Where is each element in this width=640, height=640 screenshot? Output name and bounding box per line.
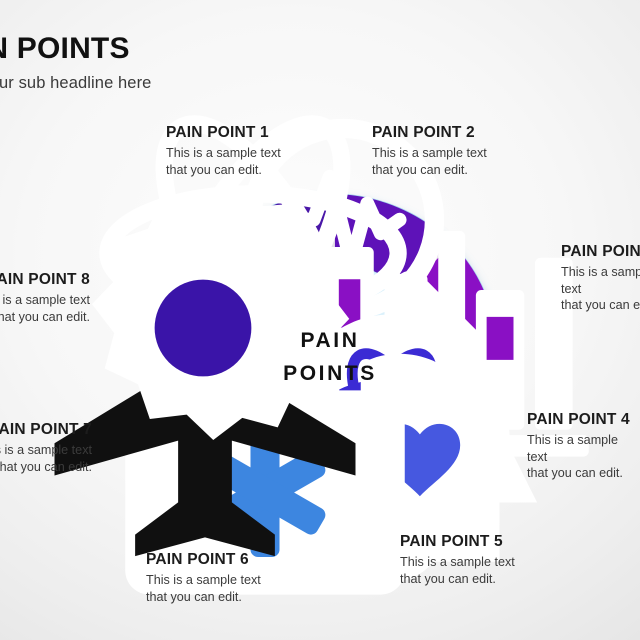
callout-body: This is a sample text that you can edit.	[527, 432, 640, 482]
callout-body: This is a sample text that you can edit.	[372, 145, 487, 178]
page-subtitle: Write your sub headline here	[0, 74, 358, 93]
callout-body: This is a sample text that you can edit.	[400, 554, 515, 587]
callout-title: PAIN POINT 8	[0, 271, 90, 288]
callout-body: This is a sample text that you can edit.	[146, 572, 261, 605]
callout-pain-point-1[interactable]: PAIN POINT 1 This is a sample text that …	[166, 124, 281, 178]
slide-canvas: PAIN POINTS Write your sub headline here	[0, 0, 640, 640]
callout-title: PAIN POINT 6	[146, 551, 261, 568]
callout-title: PAIN POINT 5	[400, 533, 515, 550]
callout-title: PAIN POINT 3	[561, 243, 640, 260]
callout-pain-point-8[interactable]: PAIN POINT 8 This is a sample text that …	[0, 271, 90, 325]
callout-body: This is a sample text that you can edit.	[0, 292, 90, 325]
callout-pain-point-4[interactable]: PAIN POINT 4 This is a sample text that …	[527, 411, 640, 482]
callout-pain-point-7[interactable]: PAIN POINT 7 This is a sample text that …	[0, 421, 92, 475]
callout-body: This is a sample text that you can edit.	[0, 442, 92, 475]
callout-title: PAIN POINT 1	[166, 124, 281, 141]
callout-body: This is a sample text that you can edit.	[561, 264, 640, 314]
callout-body: This is a sample text that you can edit.	[166, 145, 281, 178]
callout-title: PAIN POINT 4	[527, 411, 640, 428]
callout-pain-point-2[interactable]: PAIN POINT 2 This is a sample text that …	[372, 124, 487, 178]
callout-title: PAIN POINT 7	[0, 421, 92, 438]
callout-pain-point-6[interactable]: PAIN POINT 6 This is a sample text that …	[146, 551, 261, 605]
callout-pain-point-3[interactable]: PAIN POINT 3 This is a sample text that …	[561, 243, 640, 314]
page-title: PAIN POINTS	[0, 33, 358, 65]
wheel-svg	[160, 188, 504, 532]
header: PAIN POINTS Write your sub headline here	[0, 33, 358, 93]
callout-title: PAIN POINT 2	[372, 124, 487, 141]
callout-pain-point-5[interactable]: PAIN POINT 5 This is a sample text that …	[400, 533, 515, 587]
pain-points-wheel: PAIN POINTS	[160, 188, 504, 532]
